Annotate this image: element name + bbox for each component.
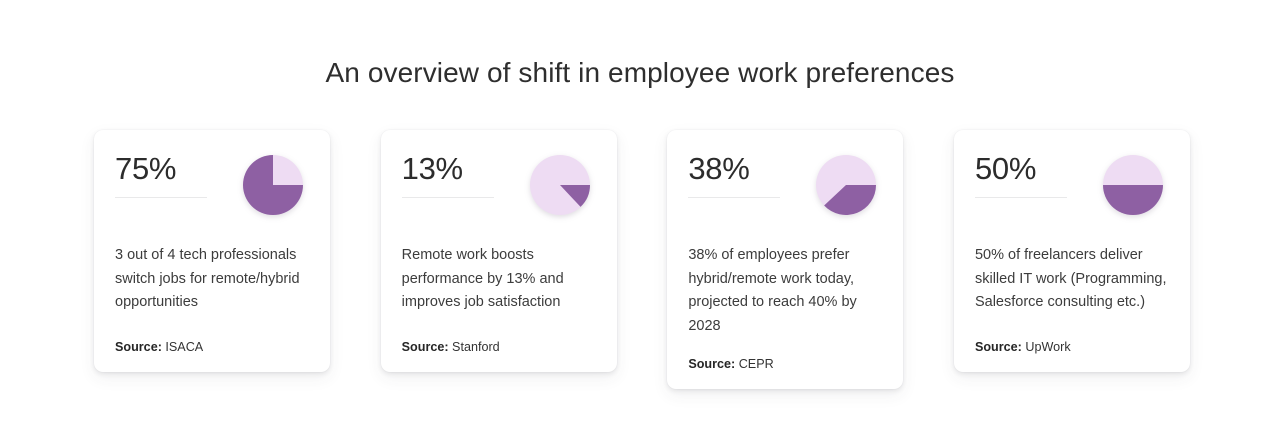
stat-percent-block: 75% (115, 152, 207, 198)
source-name: ISACA (165, 340, 203, 354)
pie-chart-icon (1103, 155, 1163, 215)
stat-card-source: Source: UpWork (975, 322, 1169, 354)
stat-card-row: 75% 3 out of 4 tech professionals switch… (94, 130, 1190, 389)
stat-percent-block: 50% (975, 152, 1067, 198)
divider (115, 197, 207, 198)
stat-card: 38% 38% of employees prefer hybrid/remot… (667, 130, 903, 389)
stat-percent-value: 50% (975, 153, 1067, 186)
pie-chart-icon (816, 155, 876, 215)
divider (402, 197, 494, 198)
stat-card-source: Source: CEPR (688, 339, 882, 371)
stat-card-header: 13% (402, 152, 596, 224)
stat-card-header: 50% (975, 152, 1169, 224)
stat-card-source: Source: ISACA (115, 322, 309, 354)
stat-card-header: 38% (688, 152, 882, 224)
source-name: UpWork (1025, 340, 1070, 354)
source-label: Source: (402, 340, 449, 354)
stat-card-description: 38% of employees prefer hybrid/remote wo… (688, 244, 882, 339)
source-name: CEPR (739, 357, 774, 371)
stat-percent-value: 75% (115, 153, 207, 186)
stat-percent-value: 38% (688, 153, 780, 186)
stat-percent-value: 13% (402, 153, 494, 186)
stat-card-description: Remote work boosts performance by 13% an… (402, 244, 596, 315)
stat-percent-block: 38% (688, 152, 780, 198)
stat-card: 13% Remote work boosts performance by 13… (381, 130, 617, 372)
stat-card: 50% 50% of freelancers deliver skilled I… (954, 130, 1190, 372)
divider (975, 197, 1067, 198)
stat-card: 75% 3 out of 4 tech professionals switch… (94, 130, 330, 372)
stat-percent-block: 13% (402, 152, 494, 198)
source-label: Source: (115, 340, 162, 354)
divider (688, 197, 780, 198)
pie-chart-icon (530, 155, 590, 215)
page-title: An overview of shift in employee work pr… (0, 53, 1280, 92)
source-label: Source: (688, 357, 735, 371)
stat-card-source: Source: Stanford (402, 322, 596, 354)
stat-card-header: 75% (115, 152, 309, 224)
source-label: Source: (975, 340, 1022, 354)
stat-card-description: 50% of freelancers deliver skilled IT wo… (975, 244, 1169, 315)
stat-card-description: 3 out of 4 tech professionals switch job… (115, 244, 309, 315)
source-name: Stanford (452, 340, 500, 354)
pie-chart-icon (243, 155, 303, 215)
infographic-page: An overview of shift in employee work pr… (0, 0, 1280, 428)
